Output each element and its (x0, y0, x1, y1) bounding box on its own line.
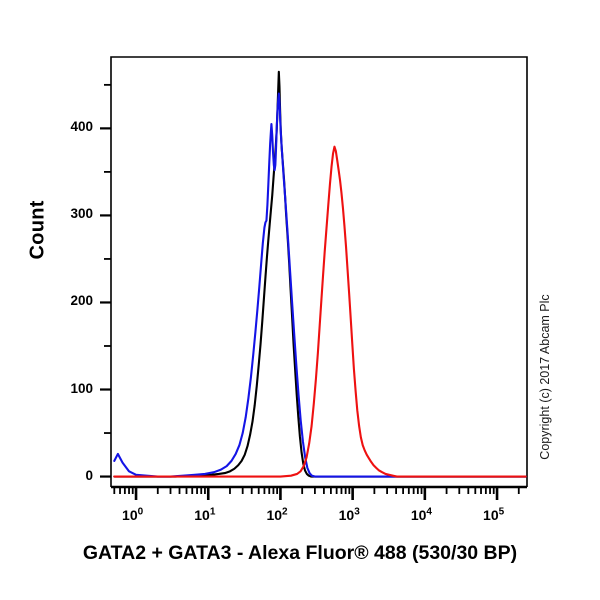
y-tick-label: 400 (53, 119, 93, 134)
y-axis-title: Count (27, 220, 50, 260)
axis-ticks (100, 85, 527, 500)
histogram-curves (114, 72, 525, 477)
curve-isotype-control (114, 94, 525, 477)
x-tick-label: 105 (483, 507, 504, 523)
plot-frame (111, 57, 527, 487)
x-tick-label: 102 (266, 507, 287, 523)
x-tick-label: 101 (194, 507, 215, 523)
copyright-notice: Copyright (c) 2017 Abcam Plc (538, 287, 552, 467)
curve-gata2-gata3-stained (114, 147, 525, 477)
y-tick-label: 0 (53, 468, 93, 483)
x-tick-label: 103 (339, 507, 360, 523)
y-tick-label: 100 (53, 381, 93, 396)
x-tick-label: 104 (411, 507, 432, 523)
x-axis-title: GATA2 + GATA3 - Alexa Fluor® 488 (530/30… (0, 542, 600, 565)
y-tick-label: 200 (53, 293, 93, 308)
curve-unstained-control (114, 72, 525, 477)
flow-cytometry-figure: Count GATA2 + GATA3 - Alexa Fluor® 488 (… (0, 0, 600, 600)
x-tick-label: 100 (122, 507, 143, 523)
y-tick-label: 300 (53, 206, 93, 221)
